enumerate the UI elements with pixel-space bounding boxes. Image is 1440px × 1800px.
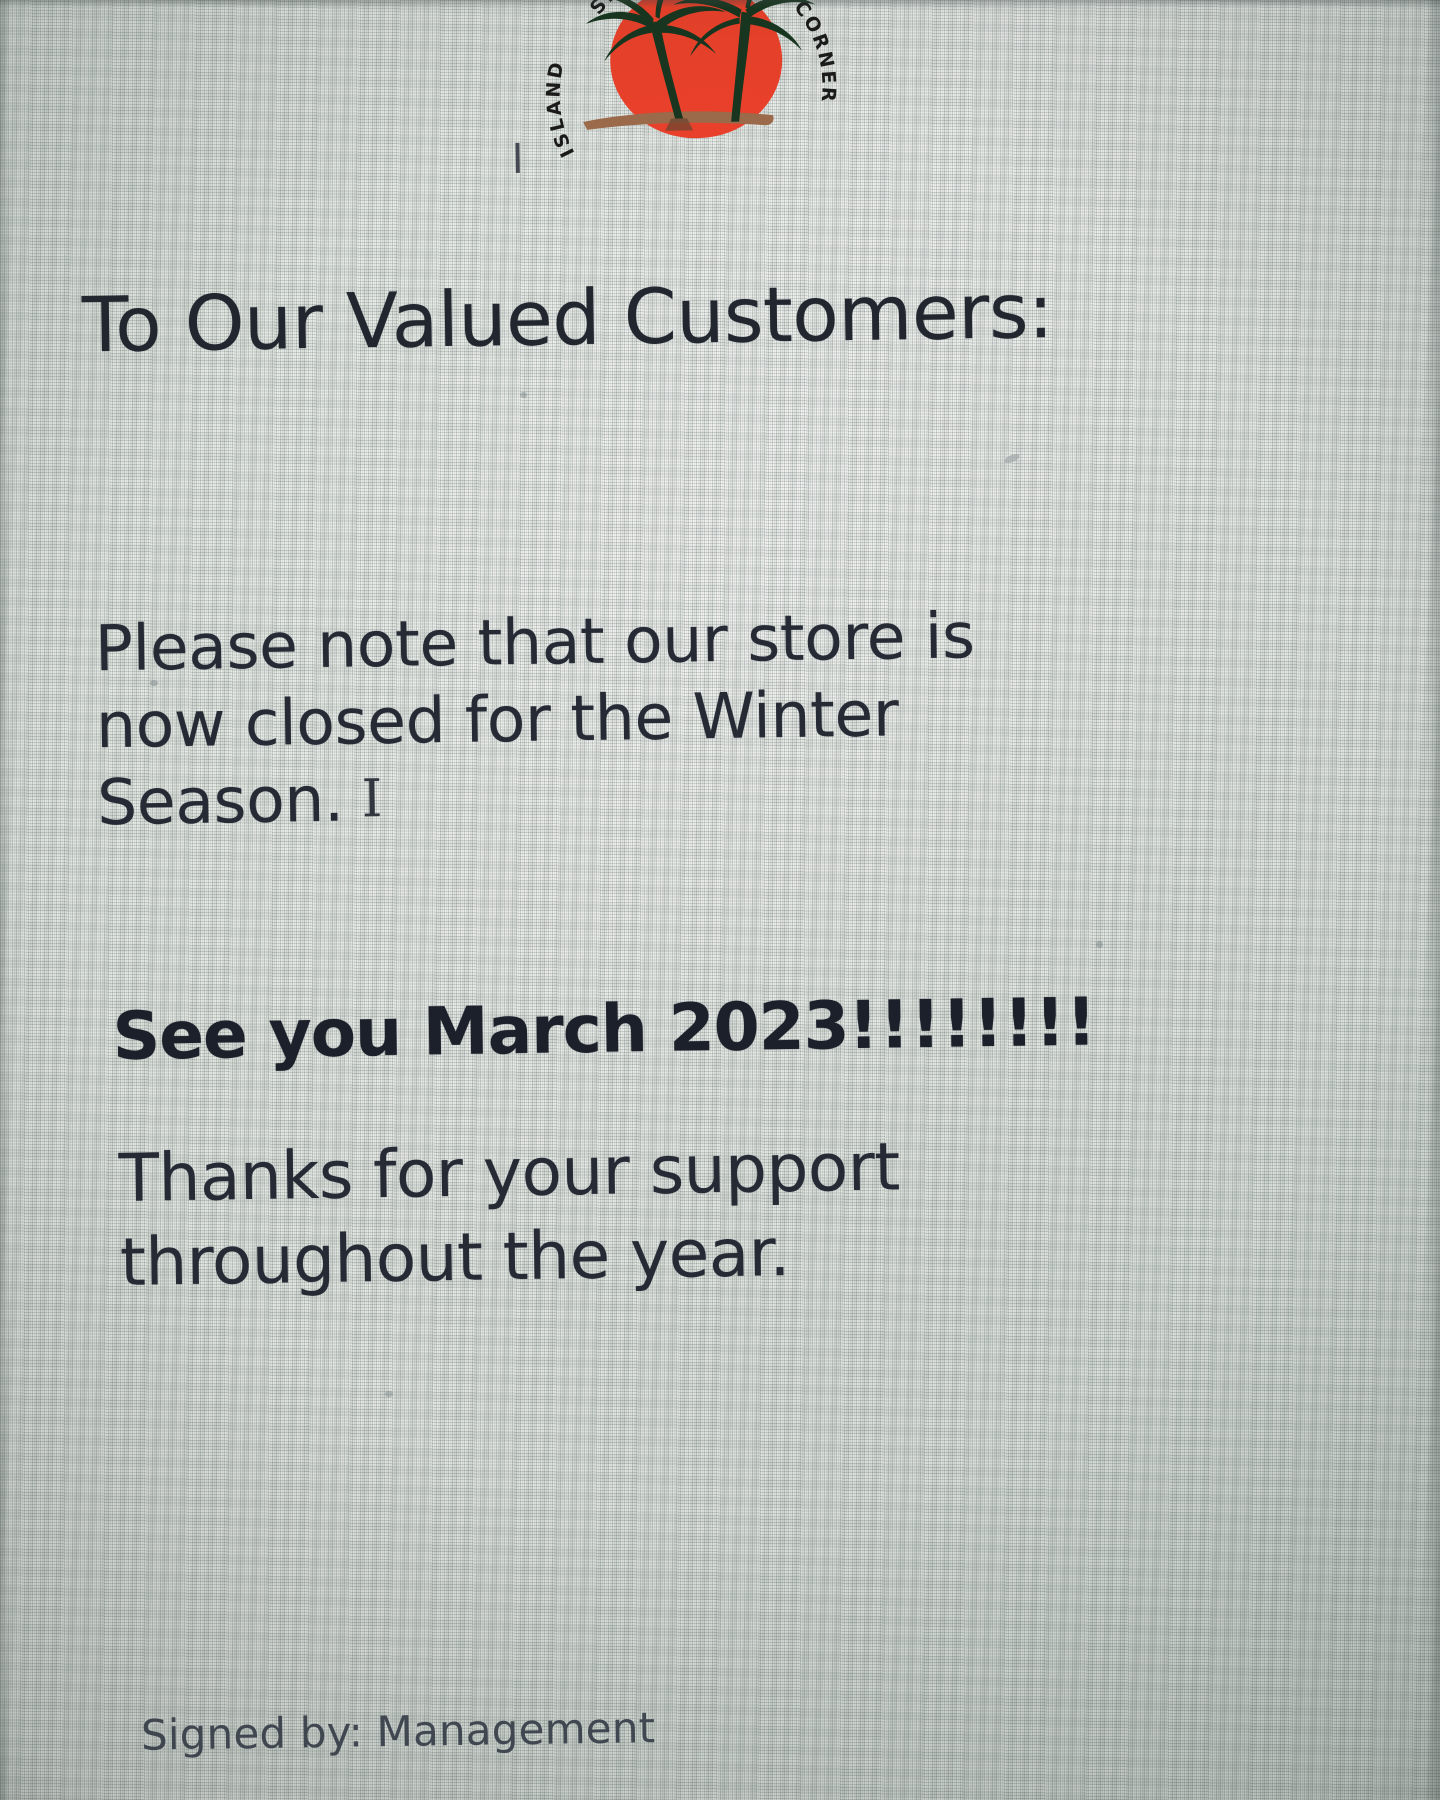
logo-arc-right-text: CORNER: [789, 0, 840, 105]
closing-message-line-2: throughout the year.: [119, 1205, 1220, 1306]
palm-tree-sunset-logo-icon: ISLAND SPICE CORNER: [523, 0, 856, 173]
notice-body-line-3-text: Season.: [97, 762, 345, 839]
notice-body-line-3: Season.I: [97, 748, 1228, 842]
reopening-announcement: See you March 2023!!!!!!!!: [112, 989, 1098, 1070]
text-caret-indicator: [515, 143, 519, 173]
screen-edge-top: [0, 0, 1440, 8]
reopening-announcement-exclamations: !!!!!!!!: [848, 983, 1098, 1064]
page-title: To Our Valued Customers:: [82, 273, 1054, 363]
ibeam-cursor-icon: I: [361, 768, 382, 832]
closing-message: Thanks for your support throughout the y…: [118, 1121, 1220, 1306]
screenshot-root: ISLAND SPICE CORNER: [0, 0, 1440, 1800]
store-logo: ISLAND SPICE CORNER: [523, 0, 856, 173]
notice-body: Please note that our store is now closed…: [94, 595, 1227, 842]
closure-notice-document: ISLAND SPICE CORNER: [0, 0, 1440, 1800]
reopening-announcement-text: See you March 2023: [112, 987, 849, 1075]
signature-line: Signed by: Management: [141, 1707, 656, 1757]
screen-edge-left: [0, 0, 10, 1800]
closing-message-line-1: Thanks for your support: [118, 1121, 1219, 1222]
photo-artifact-speck: [1096, 941, 1103, 948]
photo-artifact-speck: [150, 680, 158, 686]
screen-edge-right: [1426, 0, 1440, 1800]
photo-artifact-speck: [520, 392, 527, 398]
photo-artifact-speck: [385, 1391, 393, 1397]
logo-arc-left-text: ISLAND: [542, 58, 579, 161]
